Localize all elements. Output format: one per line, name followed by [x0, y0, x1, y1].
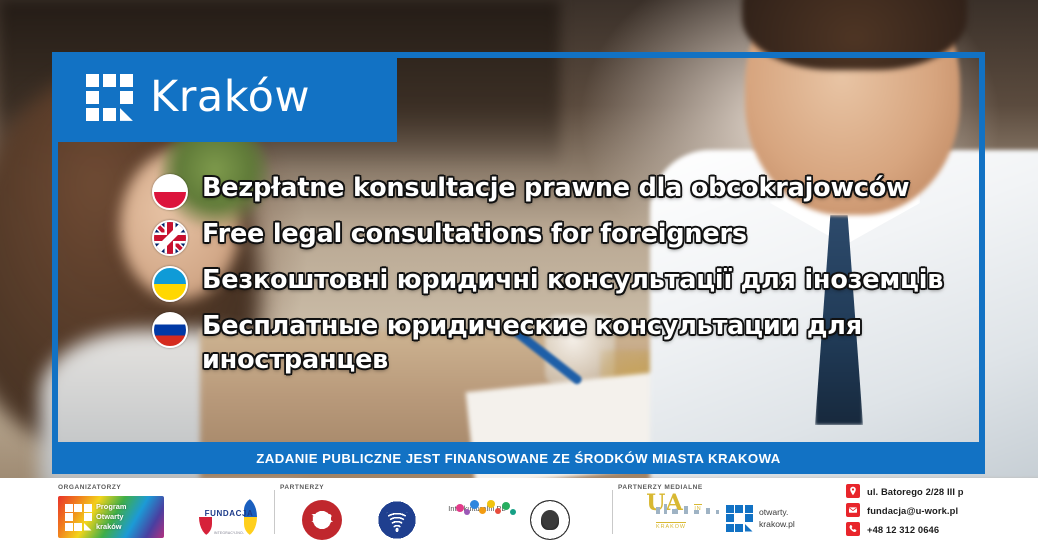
footer-organizers-section: ORGANIZATORZY Program Otwarty kraków FUN… — [0, 478, 272, 544]
otwarty-krakow-text: otwarty. krakow.pl — [759, 506, 795, 530]
krakow-grid-icon — [65, 504, 91, 530]
list-item: Free legal consultations for foreigners — [152, 218, 952, 256]
phone-icon — [846, 522, 860, 536]
krakow-grid-icon — [86, 74, 132, 120]
program-otwarty-krakow-logo[interactable]: Program Otwarty kraków — [58, 496, 164, 538]
language-text-pl: Bezpłatne konsultacje prawne dla obcokra… — [202, 172, 909, 206]
pok-line1: Program — [96, 502, 126, 511]
mr-partner-logo[interactable] — [302, 500, 342, 540]
language-text-uk: Безкоштовні юридичні консультації для ін… — [202, 264, 943, 298]
otwarty-line2: krakow.pl — [759, 519, 795, 529]
flag-uk-icon — [152, 220, 188, 256]
u-work-text-block: FUNDACJA INTEGRACYJNO-ROZWOJOWA U-WORK — [203, 503, 255, 544]
otwarty-line1: otwarty. — [759, 507, 788, 517]
contact-address-row[interactable]: ul. Batorego 2/28 III p — [846, 484, 1036, 498]
pok-line2: Otwarty — [96, 512, 124, 521]
list-item: Безкоштовні юридичні консультації для ін… — [152, 264, 952, 302]
contact-email-text: fundacja@u-work.pl — [867, 505, 958, 516]
blue-tree-partner-logo[interactable] — [377, 500, 417, 540]
partners-caption: PARTNERZY — [280, 484, 324, 491]
funding-banner-text: ZADANIE PUBLICZNE JEST FINANSOWANE ZE ŚR… — [256, 451, 780, 466]
fundacja-u-work-logo[interactable]: FUNDACJA INTEGRACYJNO-ROZWOJOWA U-WORK — [186, 495, 270, 539]
list-item: Бесплатные юридические консультации для … — [152, 310, 952, 377]
sr-bear-partner-logo[interactable] — [530, 500, 570, 540]
ua-in-krakow-logo[interactable]: UA IN KRAKOW — [630, 492, 718, 542]
footer: ORGANIZATORZY Program Otwarty kraków FUN… — [0, 478, 1038, 544]
contact-info: ul. Batorego 2/28 III p fundacja@u-work.… — [846, 484, 1036, 541]
language-text-en: Free legal consultations for foreigners — [202, 218, 747, 252]
contact-address-text: ul. Batorego 2/28 III p — [867, 486, 964, 497]
footer-partners-section: PARTNERZY Interkulturalni PL — [272, 478, 590, 544]
footer-media-partners-section: PARTNERZY MEDIALNE UA IN KRAKOW otwart — [590, 478, 840, 544]
funding-banner: ZADANIE PUBLICZNE JEST FINANSOWANE ZE ŚR… — [52, 442, 985, 474]
language-text-ru: Бесплатные юридические консультации для … — [202, 310, 862, 377]
organizers-caption: ORGANIZATORZY — [58, 484, 121, 491]
language-list: Bezpłatne konsultacje prawne dla obcokra… — [152, 172, 952, 385]
list-item: Bezpłatne konsultacje prawne dla obcokra… — [152, 172, 952, 210]
program-otwarty-krakow-text: Program Otwarty kraków — [96, 502, 126, 532]
krakow-wordmark: Kraków — [150, 76, 310, 119]
krakow-grid-icon — [726, 505, 752, 531]
media-partners-divider — [612, 490, 613, 534]
u-work-top-text: FUNDACJA — [205, 509, 254, 518]
envelope-icon — [846, 503, 860, 517]
contact-phone-row[interactable]: +48 12 312 0646 — [846, 522, 1036, 536]
u-work-mid-text: INTEGRACYJNO-ROZWOJOWA — [214, 531, 244, 544]
flag-poland-icon — [152, 174, 188, 210]
partners-divider — [274, 490, 275, 534]
flag-ukraine-icon — [152, 266, 188, 302]
interkulturalni-pl-logo[interactable]: Interkulturalni PL — [432, 498, 522, 542]
contact-phone-text: +48 12 312 0646 — [867, 524, 939, 535]
krakow-logo-badge: Kraków — [52, 52, 397, 142]
location-pin-icon — [846, 484, 860, 498]
flag-russia-icon — [152, 312, 188, 348]
poster-root: Kraków Bezpłatne konsultacje prawne dla … — [0, 0, 1038, 544]
contact-email-row[interactable]: fundacja@u-work.pl — [846, 503, 1036, 517]
pok-line3: kraków — [96, 522, 121, 531]
otwarty-krakow-pl-logo[interactable]: otwarty. krakow.pl — [726, 498, 836, 538]
